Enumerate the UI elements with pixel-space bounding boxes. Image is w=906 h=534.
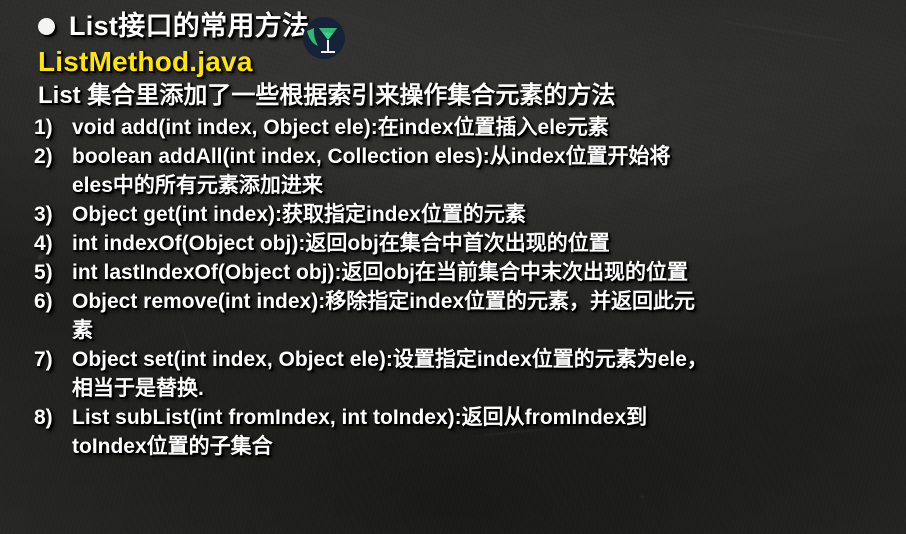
list-item: 2) boolean addAll(int index, Collection … — [34, 143, 906, 201]
list-item-body: Object get(int index):获取指定index位置的元素 — [72, 201, 906, 230]
method-list: 1) void add(int index, Object ele):在inde… — [0, 114, 906, 462]
list-item-line: int indexOf(Object obj):返回obj在集合中首次出现的位置 — [72, 230, 896, 259]
list-item-body: int indexOf(Object obj):返回obj在集合中首次出现的位置 — [72, 230, 906, 259]
bullet-dot-icon — [38, 18, 55, 35]
list-item-body: Object set(int index, Object ele):设置指定in… — [72, 346, 906, 404]
list-item: 6) Object remove(int index):移除指定index位置的… — [34, 288, 906, 346]
list-item: 5) int lastIndexOf(Object obj):返回obj在当前集… — [34, 259, 906, 288]
slide-content: List接口的常用方法 ListMethod.java List 集合里添加了一… — [0, 0, 906, 462]
list-item-number: 8) — [34, 404, 72, 433]
list-item-body: boolean addAll(int index, Collection ele… — [72, 143, 906, 201]
list-item-line: Object get(int index):获取指定index位置的元素 — [72, 201, 896, 230]
list-item-line-continued: toIndex位置的子集合 — [72, 433, 896, 462]
list-item-line-continued: 相当于是替换. — [72, 375, 896, 404]
list-item: 4) int indexOf(Object obj):返回obj在集合中首次出现… — [34, 230, 906, 259]
page-title: List接口的常用方法 — [69, 12, 309, 42]
list-item: 3) Object get(int index):获取指定index位置的元素 — [34, 201, 906, 230]
list-item-number: 4) — [34, 230, 72, 259]
list-item-line: int lastIndexOf(Object obj):返回obj在当前集合中末… — [72, 259, 896, 288]
list-item-number: 2) — [34, 143, 72, 172]
list-item-line: Object set(int index, Object ele):设置指定in… — [72, 346, 896, 375]
list-item-line: Object remove(int index):移除指定index位置的元素，… — [72, 288, 896, 317]
list-item-body: int lastIndexOf(Object obj):返回obj在当前集合中末… — [72, 259, 906, 288]
list-item: 7) Object set(int index, Object ele):设置指… — [34, 346, 906, 404]
slide-canvas: List接口的常用方法 ListMethod.java List 集合里添加了一… — [0, 0, 906, 534]
list-item: 1) void add(int index, Object ele):在inde… — [34, 114, 906, 143]
list-item-number: 3) — [34, 201, 72, 230]
list-item-number: 5) — [34, 259, 72, 288]
board-scratch — [640, 495, 645, 498]
file-name-label: ListMethod.java — [38, 47, 906, 78]
lead-description: List 集合里添加了一些根据索引来操作集合元素的方法 — [38, 83, 906, 110]
list-item-line: List subList(int fromIndex, int toIndex)… — [72, 404, 896, 433]
list-item-line: boolean addAll(int index, Collection ele… — [72, 143, 896, 172]
list-item: 8) List subList(int fromIndex, int toInd… — [34, 404, 906, 462]
list-item-line-continued: eles中的所有元素添加进来 — [72, 172, 896, 201]
list-item-body: void add(int index, Object ele):在index位置… — [72, 114, 906, 143]
list-item-body: List subList(int fromIndex, int toIndex)… — [72, 404, 906, 462]
list-item-number: 7) — [34, 346, 72, 375]
list-item-line-continued: 素 — [72, 317, 896, 346]
list-item-number: 6) — [34, 288, 72, 317]
list-item-body: Object remove(int index):移除指定index位置的元素，… — [72, 288, 906, 346]
list-item-number: 1) — [34, 114, 72, 143]
list-item-line: void add(int index, Object ele):在index位置… — [72, 114, 896, 143]
slide-title-row: List接口的常用方法 — [38, 12, 906, 42]
